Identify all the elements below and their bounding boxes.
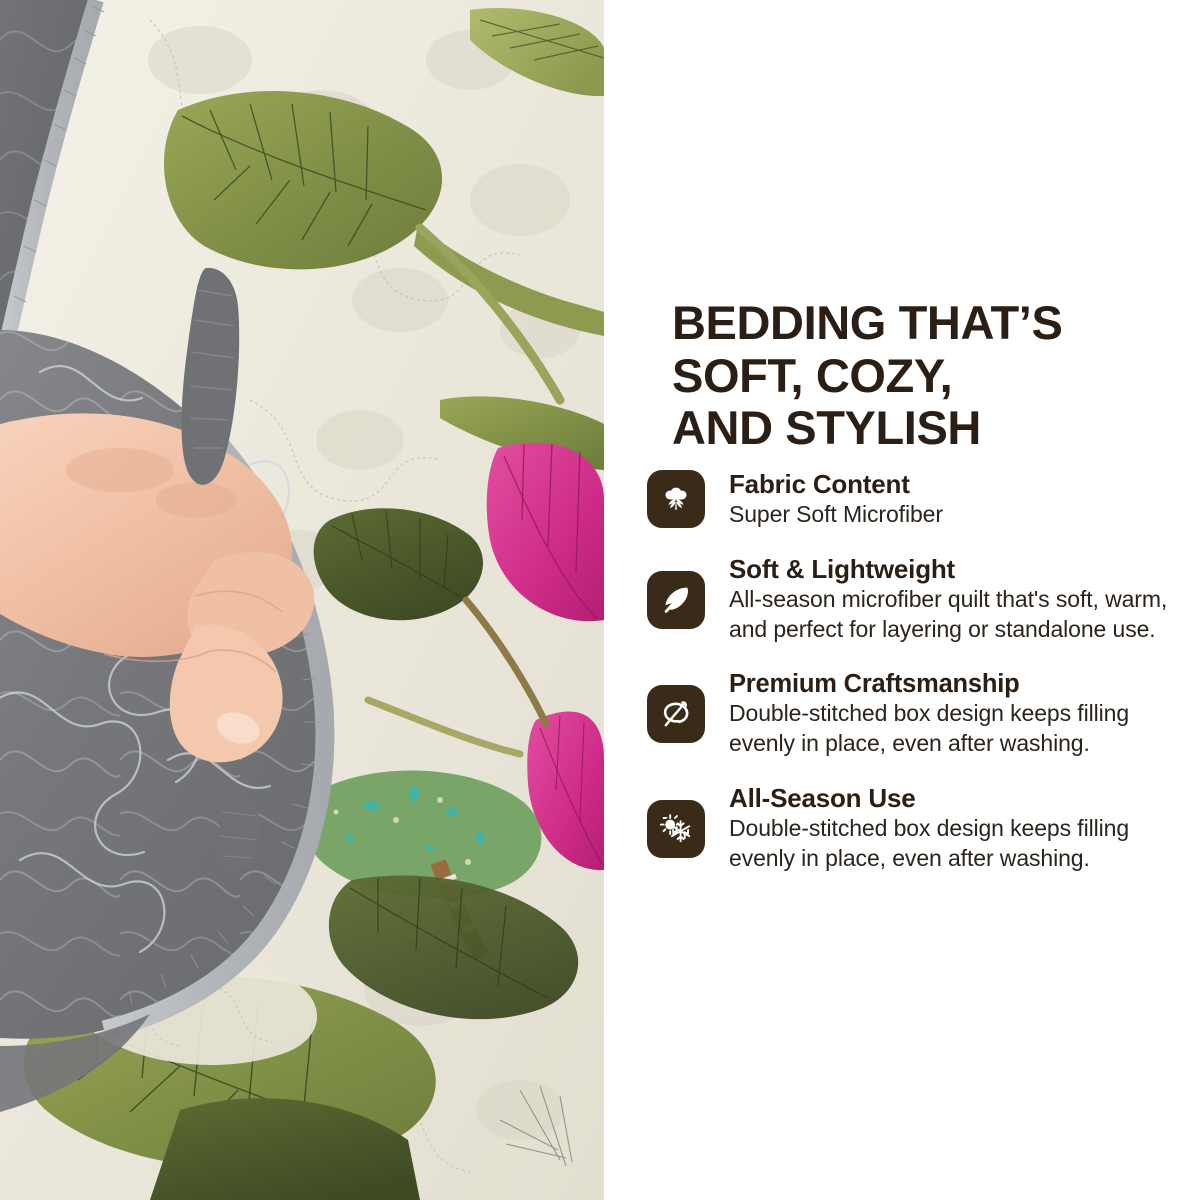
feature-item-all-season-use: All-Season Use Double-stitched box desig… — [604, 784, 1200, 874]
headline-line-1: BEDDING THAT’S — [672, 297, 1142, 349]
product-infographic: BEDDING THAT’S SOFT, COZY, AND STYLISH — [0, 0, 1200, 1200]
feature-title: All-Season Use — [729, 784, 1200, 813]
sun-snowflake-icon — [647, 800, 705, 858]
page-title: BEDDING THAT’S SOFT, COZY, AND STYLISH — [672, 297, 1142, 454]
feature-title: Fabric Content — [729, 470, 1200, 499]
needle-thread-icon — [647, 685, 705, 743]
product-photo — [0, 0, 604, 1200]
feature-text: Premium Craftsmanship Double-stitched bo… — [729, 670, 1200, 759]
feature-item-premium-craftsmanship: Premium Craftsmanship Double-stitched bo… — [604, 670, 1200, 759]
feature-text: All-Season Use Double-stitched box desig… — [729, 784, 1200, 874]
feather-icon — [647, 571, 705, 629]
feature-item-soft-lightweight: Soft & Lightweight All-season microfiber… — [604, 555, 1200, 645]
cotton-boll-icon — [647, 470, 705, 528]
headline-line-2: SOFT, COZY, — [672, 350, 1142, 402]
feature-description: All-season microfiber quilt that's soft,… — [729, 585, 1200, 645]
feature-item-fabric-content: Fabric Content Super Soft Microfiber — [604, 470, 1200, 529]
feature-list: Fabric Content Super Soft Microfiber Sof… — [604, 470, 1200, 896]
headline-line-3: AND STYLISH — [672, 402, 1142, 454]
feature-description: Super Soft Microfiber — [729, 500, 1200, 529]
feature-description: Double-stitched box design keeps filling… — [729, 814, 1200, 874]
feature-text: Fabric Content Super Soft Microfiber — [729, 470, 1200, 529]
feature-title: Soft & Lightweight — [729, 555, 1200, 584]
feature-text: Soft & Lightweight All-season microfiber… — [729, 555, 1200, 645]
feature-description: Double-stitched box design keeps filling… — [729, 699, 1200, 759]
feature-title: Premium Craftsmanship — [729, 670, 1200, 699]
info-panel: BEDDING THAT’S SOFT, COZY, AND STYLISH — [604, 0, 1200, 1200]
